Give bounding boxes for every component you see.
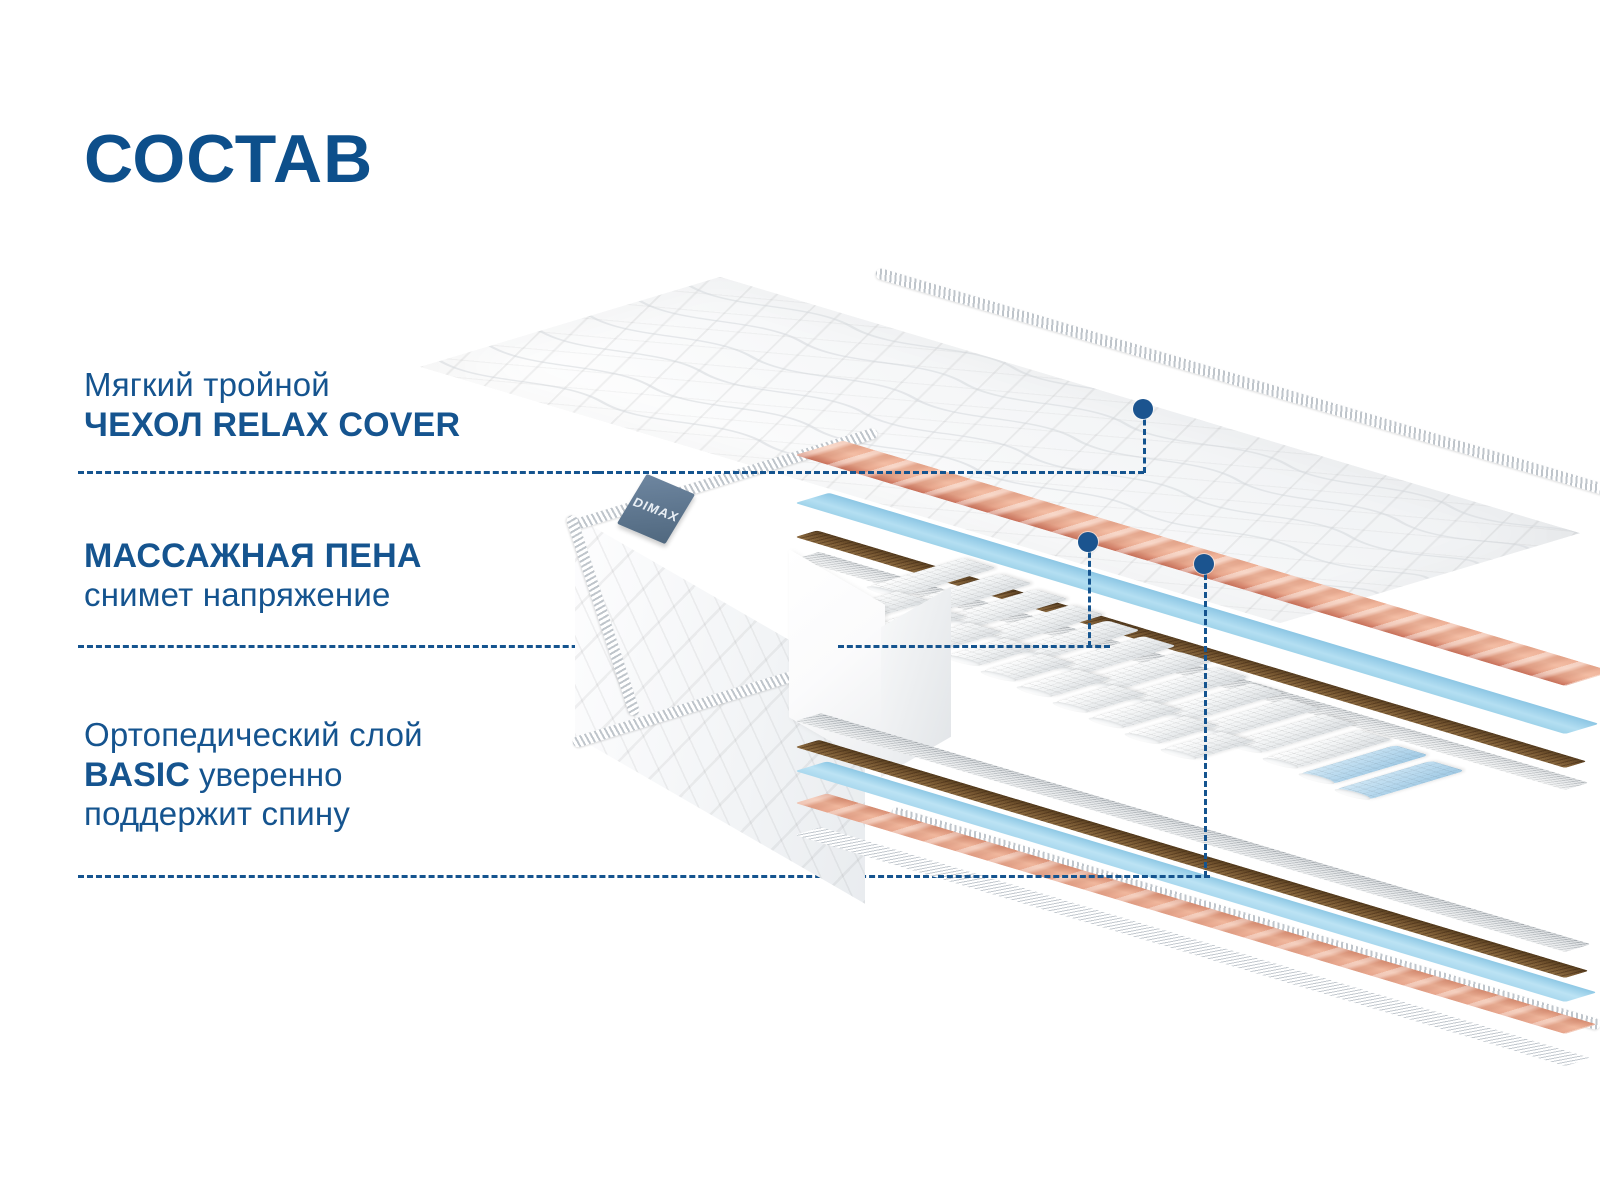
callout-foam-line2: снимет напряжение <box>84 576 422 615</box>
marker-dot-basic <box>1194 554 1214 574</box>
dimax-brand-tag-label: DIMAX <box>630 494 682 524</box>
callout-basic-line2-rest: уверенно <box>190 756 343 793</box>
dimax-brand-tag: DIMAX <box>617 474 695 544</box>
page-title: СОСТАВ <box>84 125 373 193</box>
callout-cover-dashed-rule <box>78 471 598 474</box>
leader-foam-horizontal <box>838 645 1110 648</box>
callout-foam-line1: МАССАЖНАЯ ПЕНА <box>84 536 422 576</box>
leader-cover-horizontal <box>598 471 1144 474</box>
comfort-foam-blue-bottom <box>795 761 1597 1002</box>
callout-foam: МАССАЖНАЯ ПЕНА снимет напряжение <box>84 536 422 615</box>
leader-cover-vertical <box>1143 410 1146 473</box>
callout-basic-bold-term: BASIC <box>84 756 190 794</box>
mattress-cutaway-illustration: DIMAX <box>560 255 1600 975</box>
marker-dot-cover <box>1133 399 1153 419</box>
illustration-canvas: СОСТАВ Мягкий тройной ЧЕХОЛ RELAX COVER … <box>0 0 1600 1200</box>
callout-cover: Мягкий тройной ЧЕХОЛ RELAX COVER <box>84 366 460 445</box>
callout-basic: Ортопедический слой BASIC уверенно подде… <box>84 716 423 834</box>
callout-cover-line2: ЧЕХОЛ RELAX COVER <box>84 405 460 445</box>
callout-basic-line2: BASIC уверенно <box>84 755 423 795</box>
leader-basic-horizontal <box>938 875 1210 878</box>
leader-foam-vertical <box>1088 543 1091 647</box>
marker-dot-foam <box>1078 532 1098 552</box>
callout-cover-line1: Мягкий тройной <box>84 366 460 405</box>
leader-basic-vertical <box>1204 565 1207 877</box>
callout-basic-line1: Ортопедический слой <box>84 716 423 755</box>
mattress-cross-section <box>795 455 1595 935</box>
callout-basic-line3: поддержит спину <box>84 795 423 834</box>
